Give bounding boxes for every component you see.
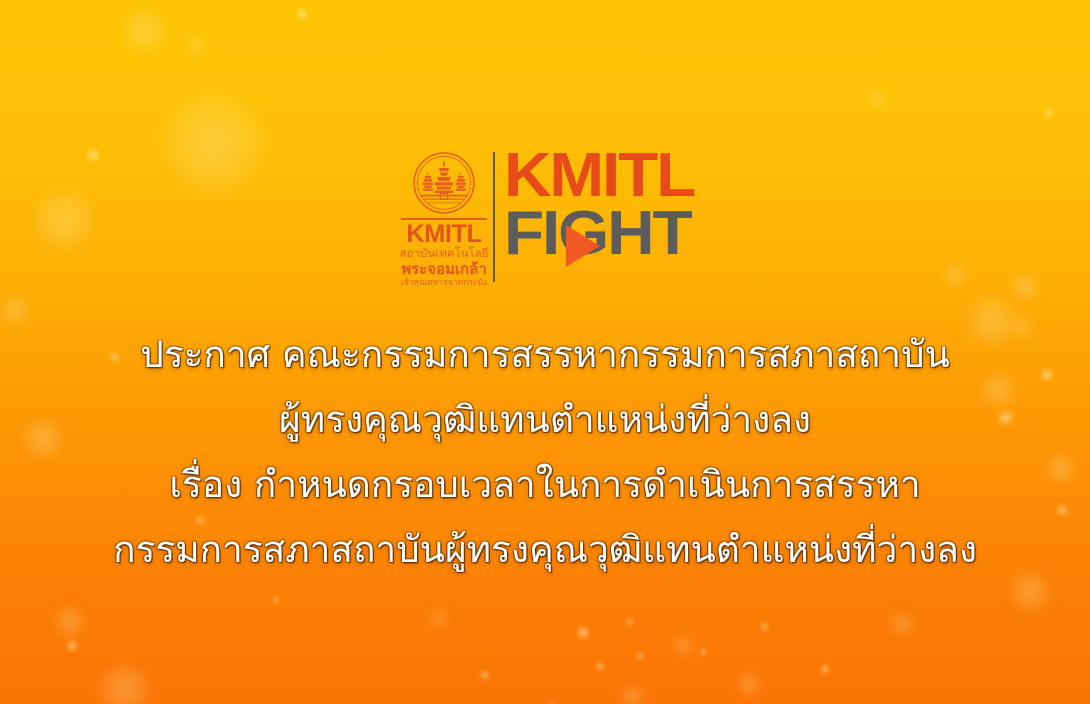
campaign-line1-label: KMITL (504, 150, 699, 202)
announcement-line-3: เรื่อง กำหนดกรอบเวลาในการดำเนินการสรรหา (0, 452, 1090, 517)
bokeh-circle (158, 88, 270, 200)
bokeh-circle (1010, 272, 1040, 302)
kmitl-royal-seal-icon (412, 151, 476, 215)
bokeh-circle (942, 262, 968, 288)
university-thai-line3-label: เจ้าคุณทหารลาดกระบัง (401, 278, 487, 288)
bokeh-circle (66, 640, 78, 652)
announcement-banner: KMITL สถาบันเทคโนโลยี พระจอมเกล้า เจ้าคุ… (0, 0, 1090, 704)
bokeh-circle (620, 684, 646, 704)
announcement-line-4: กรรมการสภาสถาบันผู้ทรงคุณวุฒิแทนตำแหน่งท… (0, 517, 1090, 582)
bokeh-circle (480, 670, 490, 680)
bokeh-circle (760, 622, 769, 631)
bokeh-circle (122, 8, 168, 54)
bokeh-circle (96, 664, 154, 704)
bokeh-circle (736, 672, 762, 696)
university-thai-line1-label: สถาบันเทคโนโลยี (400, 248, 489, 261)
university-thai-line2-label: พระจอมเกล้า (401, 261, 487, 278)
announcement-line-1: ประกาศ คณะกรรมการสรรหากรรมการสภาสถาบัน (0, 322, 1090, 387)
bokeh-circle (188, 36, 206, 54)
play-triangle-icon (566, 225, 600, 267)
bokeh-circle (1044, 108, 1054, 118)
kmitl-fight-logo: KMITL สถาบันเทคโนโลยี พระจอมเกล้า เจ้าคุ… (398, 148, 688, 288)
kmitl-university-logo: KMITL สถาบันเทคโนโลยี พระจอมเกล้า เจ้าคุ… (398, 148, 490, 288)
bokeh-circle (86, 148, 100, 162)
bokeh-circle (890, 612, 914, 636)
bokeh-circle (636, 652, 644, 660)
bokeh-circle (296, 8, 308, 20)
bokeh-circle (672, 636, 694, 656)
bokeh-circle (430, 610, 448, 628)
bokeh-circle (30, 188, 98, 252)
announcement-line-2: ผู้ทรงคุณวุฒิแทนตำแหน่งที่ว่างลง (0, 387, 1090, 452)
bokeh-circle (700, 648, 708, 656)
announcement-headline: ประกาศ คณะกรรมการสรรหากรรมการสภาสถาบัน ผ… (0, 322, 1090, 582)
bokeh-circle (576, 626, 590, 640)
bokeh-circle (54, 606, 86, 638)
bokeh-circle (596, 662, 605, 671)
bokeh-circle (866, 88, 888, 110)
bokeh-circle (820, 664, 830, 674)
vertical-divider-icon (493, 152, 495, 282)
campaign-line2-label: FIGHT (504, 208, 699, 260)
bokeh-circle (272, 596, 280, 604)
university-abbrev-label: KMITL (406, 222, 481, 247)
kmitl-fight-wordmark: KMITL FIGHT (504, 148, 688, 288)
bokeh-circle (626, 618, 634, 626)
